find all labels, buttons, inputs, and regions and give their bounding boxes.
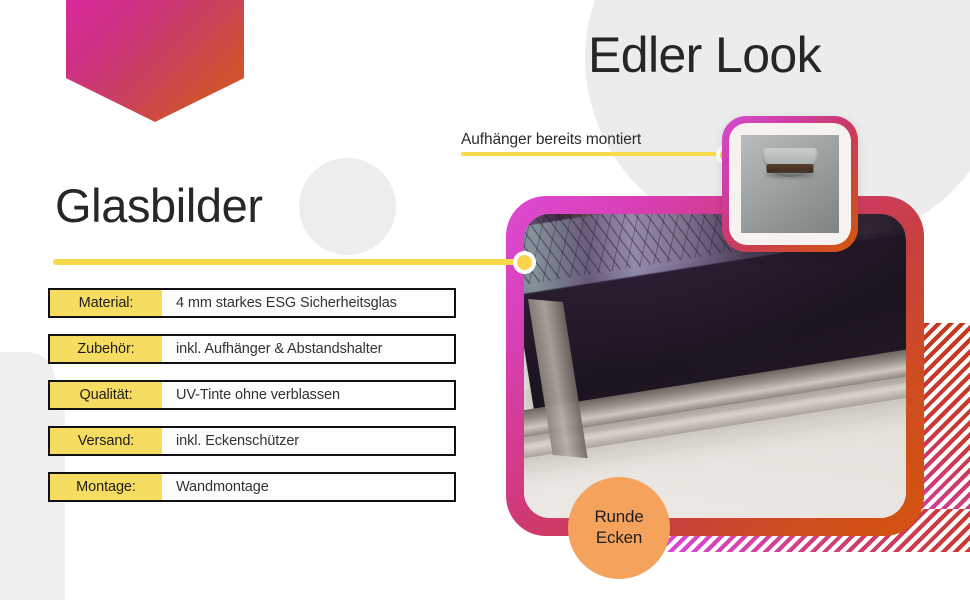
spec-value: Wandmontage xyxy=(162,474,454,500)
status-badge: Runde Ecken xyxy=(568,477,670,579)
spec-value: UV-Tinte ohne verblassen xyxy=(162,382,454,408)
hanger-detail-inner-frame xyxy=(729,123,851,245)
spec-connector-line xyxy=(53,259,523,265)
badge-line-1: Runde xyxy=(594,507,643,528)
table-row: Zubehör: inkl. Aufhänger & Abstandshalte… xyxy=(48,334,456,364)
page-title: Glasbilder xyxy=(55,178,263,233)
badge-line-2: Ecken xyxy=(596,528,642,549)
table-row: Versand: inkl. Eckenschützer xyxy=(48,426,456,456)
poster-canvas: Edler Look Glasbilder Aufhänger bereits … xyxy=(0,0,970,600)
spec-connector-dot xyxy=(513,251,536,274)
hanger-shadow-shape xyxy=(766,172,815,178)
table-row: Qualität: UV-Tinte ohne verblassen xyxy=(48,380,456,410)
spec-key: Material: xyxy=(50,290,162,316)
background-circle-middle xyxy=(299,158,396,255)
hanger-callout-label: Aufhänger bereits montiert xyxy=(461,131,641,149)
secondary-title: Edler Look xyxy=(588,26,821,84)
spec-table: Material: 4 mm starkes ESG Sicherheitsgl… xyxy=(48,288,456,518)
spec-value: inkl. Aufhänger & Abstandshalter xyxy=(162,336,454,362)
spec-key: Qualität: xyxy=(50,382,162,408)
shield-badge-icon xyxy=(66,0,244,122)
hanger-detail-card xyxy=(722,116,858,252)
spec-key: Zubehör: xyxy=(50,336,162,362)
spec-value: inkl. Eckenschützer xyxy=(162,428,454,454)
product-photo xyxy=(524,214,906,518)
spec-key: Montage: xyxy=(50,474,162,500)
spec-key: Versand: xyxy=(50,428,162,454)
table-row: Montage: Wandmontage xyxy=(48,472,456,502)
spec-value: 4 mm starkes ESG Sicherheitsglas xyxy=(162,290,454,316)
hanger-connector-line xyxy=(461,152,726,156)
wall-hanger-icon xyxy=(741,135,839,233)
product-image-frame xyxy=(506,196,924,536)
table-row: Material: 4 mm starkes ESG Sicherheitsgl… xyxy=(48,288,456,318)
background-blob-bottom-left-2 xyxy=(0,352,55,600)
